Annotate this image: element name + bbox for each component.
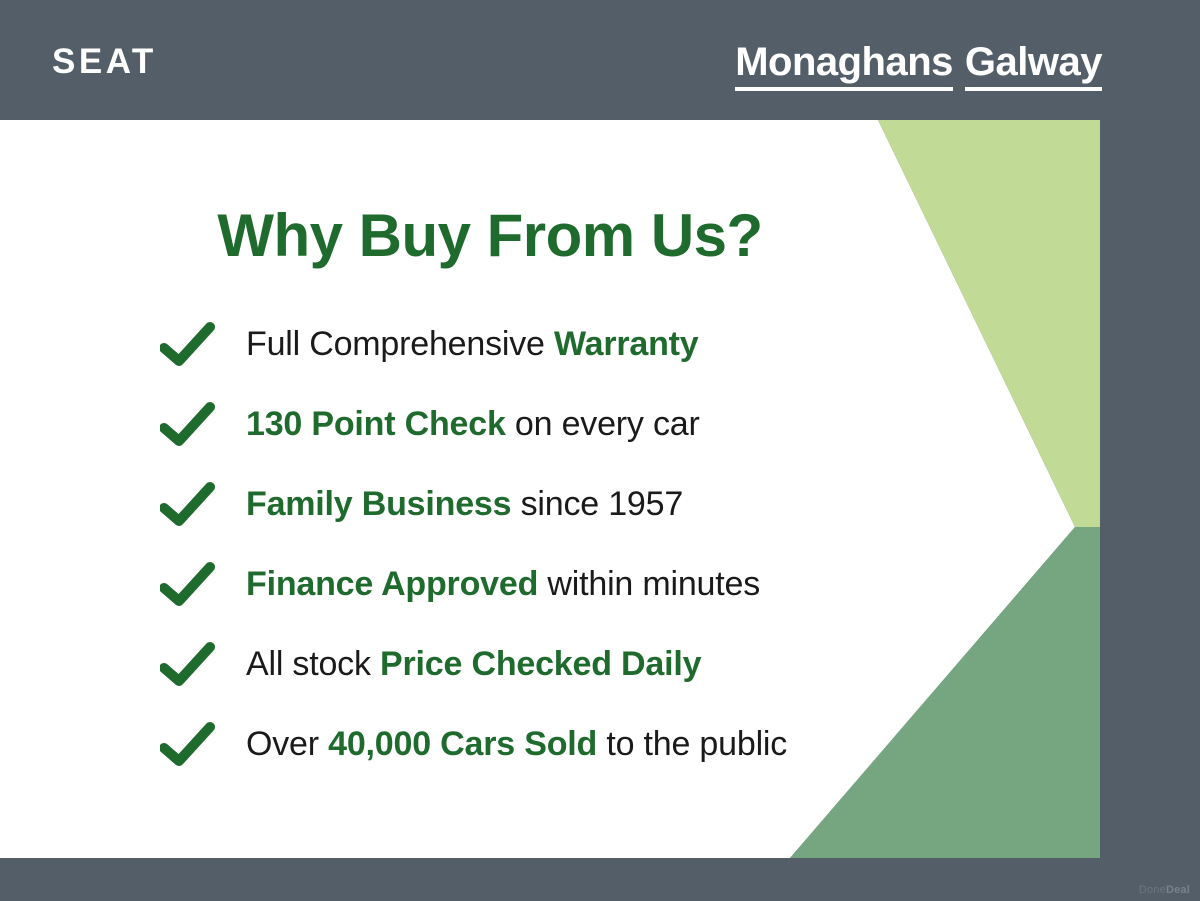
bullet-4-part-1: Finance Approved xyxy=(246,565,538,603)
list-item: All stock Price Checked Daily xyxy=(160,625,990,705)
bullet-6-part-2: 40,000 Cars Sold xyxy=(328,725,597,763)
dealer-name-word-2: Galway xyxy=(965,40,1102,91)
benefits-list: Full Comprehensive Warranty 130 Point Ch… xyxy=(160,305,990,785)
check-icon xyxy=(160,562,216,608)
bullet-4-part-2: within minutes xyxy=(538,565,760,603)
dealer-name-word-1: Monaghans xyxy=(735,40,953,91)
bullet-1-part-1: Full Comprehensive xyxy=(246,325,554,363)
list-item: Over 40,000 Cars Sold to the public xyxy=(160,705,990,785)
list-item: 130 Point Check on every car xyxy=(160,385,990,465)
bullet-6-part-1: Over xyxy=(246,725,328,763)
bullet-3-part-2: since 1957 xyxy=(511,485,683,523)
list-item: Full Comprehensive Warranty xyxy=(160,305,990,385)
footer-band: DoneDeal xyxy=(0,858,1200,901)
slide-content: Why Buy From Us? Full Comprehensive Warr… xyxy=(0,120,1200,858)
check-icon xyxy=(160,482,216,528)
list-item-label: Full Comprehensive Warranty xyxy=(246,326,699,363)
header-band: SEAT MonaghansGalway xyxy=(0,0,1200,120)
watermark-light-text: Done xyxy=(1139,884,1166,896)
list-item-label: All stock Price Checked Daily xyxy=(246,646,701,683)
dealer-name: MonaghansGalway xyxy=(735,40,1102,91)
bullet-5-part-1: All stock xyxy=(246,645,380,683)
page-title: Why Buy From Us? xyxy=(0,206,980,266)
bullet-3-part-1: Family Business xyxy=(246,485,511,523)
donedeal-watermark: DoneDeal xyxy=(1139,884,1190,896)
bullet-2-part-1: 130 Point Check xyxy=(246,405,506,443)
slide-canvas: SEAT MonaghansGalway Why Buy From Us? xyxy=(0,0,1200,901)
list-item-label: Over 40,000 Cars Sold to the public xyxy=(246,726,787,763)
check-icon xyxy=(160,722,216,768)
bullet-1-part-2: Warranty xyxy=(554,325,699,363)
bullet-6-part-3: to the public xyxy=(597,725,787,763)
seat-brand-logo: SEAT xyxy=(52,44,157,79)
check-icon xyxy=(160,322,216,368)
list-item: Family Business since 1957 xyxy=(160,465,990,545)
check-icon xyxy=(160,642,216,688)
watermark-bold-text: Deal xyxy=(1166,884,1190,896)
list-item-label: Finance Approved within minutes xyxy=(246,566,760,603)
list-item-label: 130 Point Check on every car xyxy=(246,406,700,443)
bullet-5-part-2: Price Checked Daily xyxy=(380,645,701,683)
list-item: Finance Approved within minutes xyxy=(160,545,990,625)
bullet-2-part-2: on every car xyxy=(506,405,700,443)
check-icon xyxy=(160,402,216,448)
list-item-label: Family Business since 1957 xyxy=(246,486,683,523)
